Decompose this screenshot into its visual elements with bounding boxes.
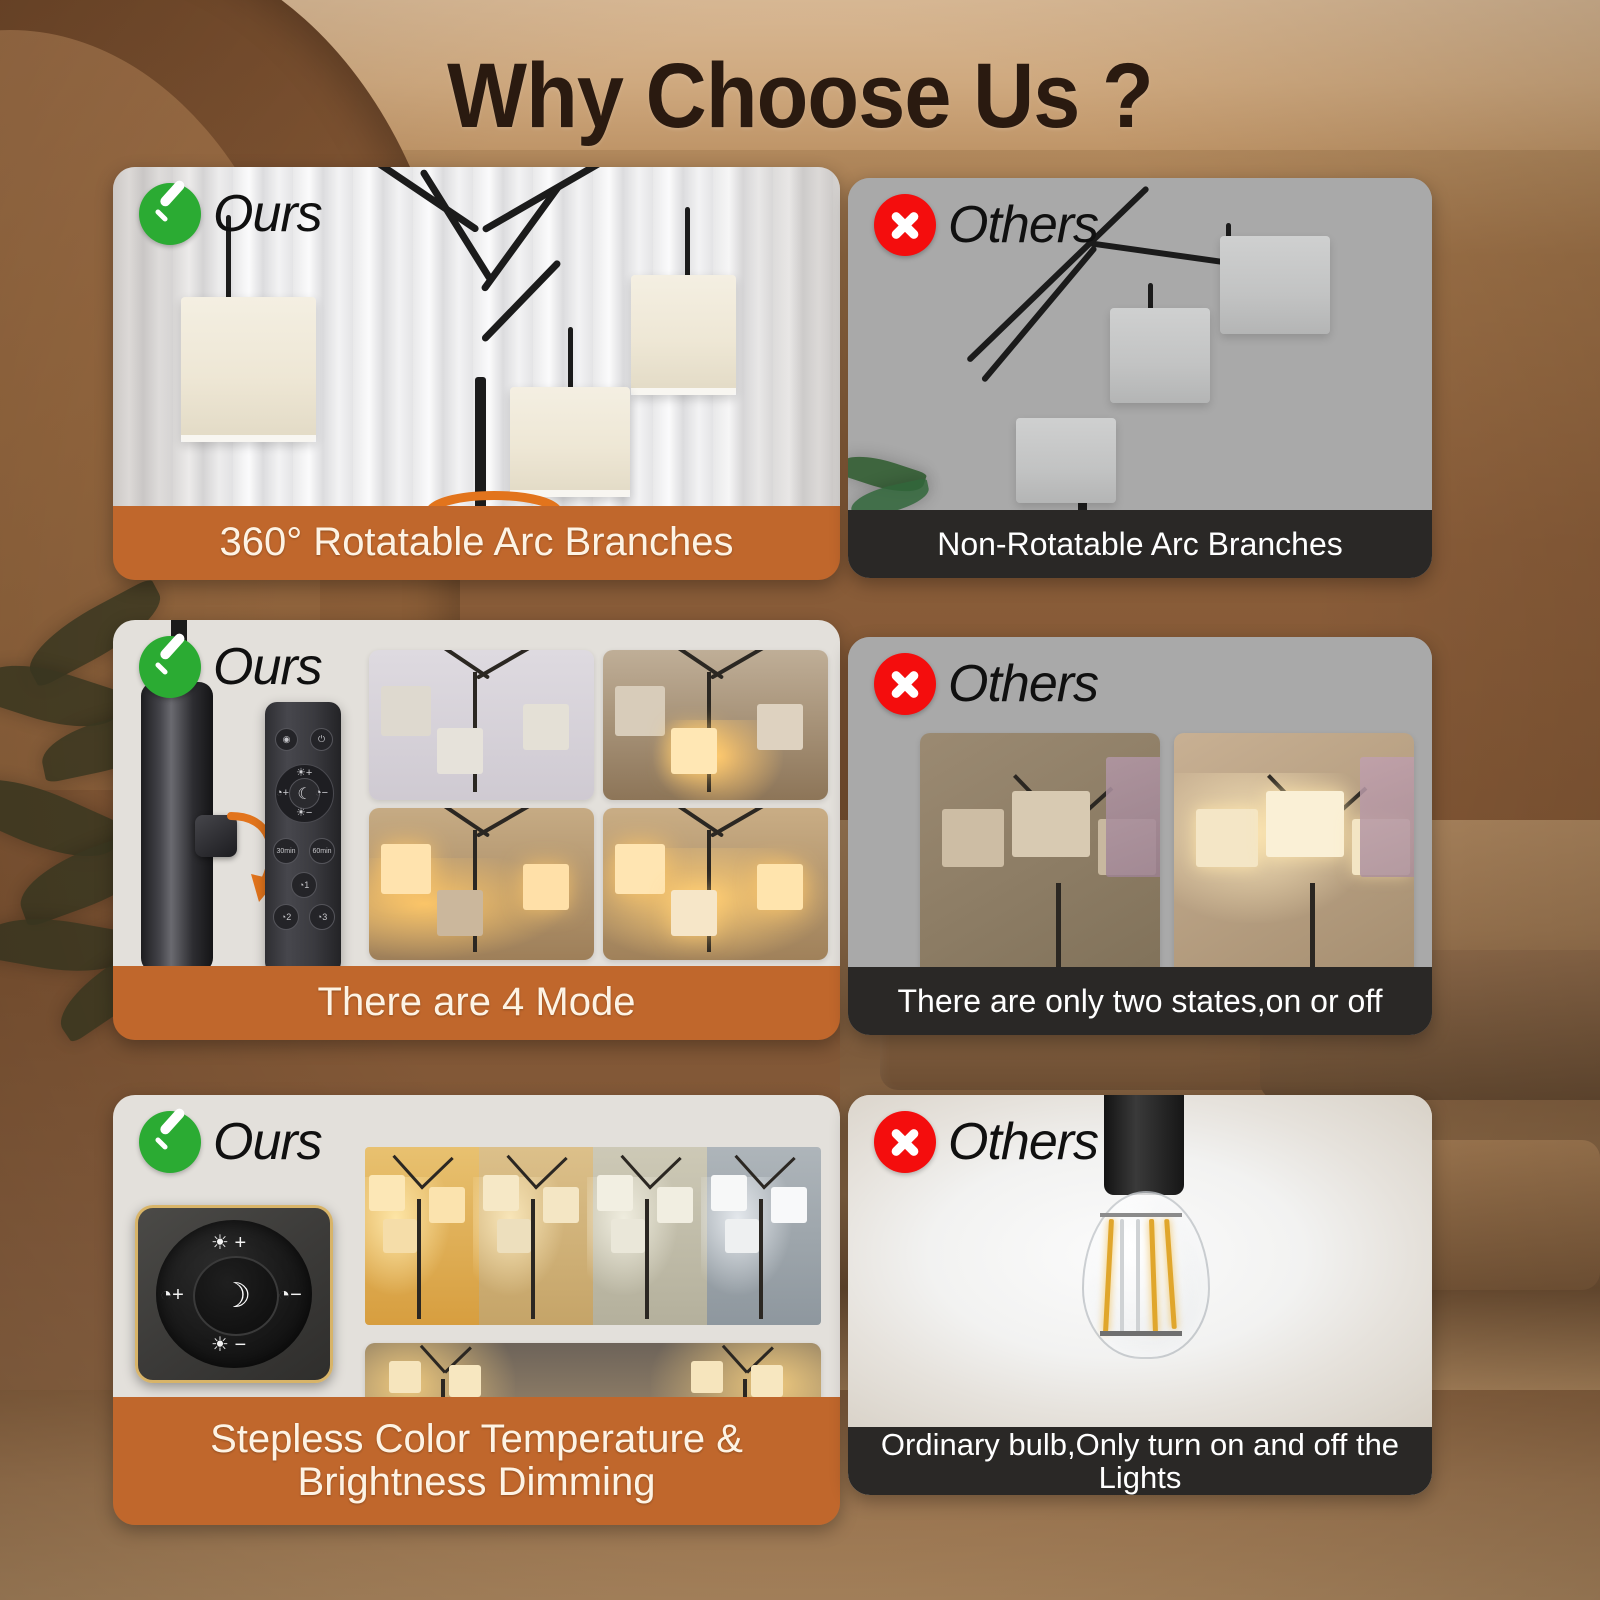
color-temp-swatch[interactable] bbox=[365, 1147, 479, 1325]
others-shade-top bbox=[1220, 236, 1330, 334]
bulb-filament bbox=[1120, 1219, 1124, 1333]
caption-others-bulb: Ordinary bulb,Only turn on and off the L… bbox=[848, 1427, 1432, 1495]
color-temp-down-label: ◔− bbox=[315, 787, 328, 799]
others-badge-row-2: Others bbox=[874, 653, 1098, 715]
light-2-button[interactable]: ◔2 bbox=[273, 904, 299, 930]
shade bbox=[449, 1365, 481, 1397]
others-badge-label: Others bbox=[948, 1116, 1098, 1168]
shade bbox=[691, 1361, 723, 1393]
others-state-off[interactable] bbox=[920, 733, 1160, 967]
color-temp-up-label: ◔+ bbox=[276, 787, 289, 799]
color-temp-strip bbox=[365, 1147, 821, 1325]
remote-control[interactable]: ◉ ⏻ ☾ ☀+ ◔+ ◔− ☀− 30min 60min ◔1 ◔2 ◔3 bbox=[265, 702, 341, 966]
shade bbox=[611, 1219, 645, 1253]
shade bbox=[757, 704, 803, 750]
others-plant bbox=[848, 440, 950, 510]
ours-badge-label: Ours bbox=[213, 641, 322, 693]
night-light-button[interactable]: ☽ bbox=[193, 1256, 279, 1336]
shade bbox=[389, 1361, 421, 1393]
mode-button[interactable]: ◉ bbox=[275, 728, 298, 751]
shade bbox=[437, 728, 483, 774]
color-temp-swatch[interactable] bbox=[707, 1147, 821, 1325]
others-modes-stage: Others bbox=[848, 637, 1432, 967]
others-lamp-arc-2 bbox=[981, 245, 1098, 383]
brightness-up-label: ☀ + bbox=[211, 1230, 246, 1255]
ours-badge-label: Ours bbox=[213, 188, 322, 240]
lamp-shade-left bbox=[181, 297, 316, 442]
ours-dimming-stage: ☽ ☀ + ◔+ ◔− ☀ − bbox=[113, 1095, 840, 1397]
timer-60min-button[interactable]: 60min bbox=[309, 838, 335, 864]
lamp-drop-mid bbox=[568, 327, 573, 389]
brightness-down-label: ☀− bbox=[296, 806, 312, 819]
shade bbox=[483, 1175, 519, 1211]
page-title: Why Choose Us ? bbox=[64, 44, 1536, 149]
caption-ours-dimming-line2: Brightness Dimming bbox=[298, 1461, 656, 1504]
shade bbox=[757, 864, 803, 910]
mode-thumb-3[interactable] bbox=[369, 808, 594, 960]
caption-ours-dimming-line1: Stepless Color Temperature & bbox=[210, 1418, 743, 1461]
ours-badge-row-1: Ours bbox=[139, 183, 322, 245]
card-ours-dimming[interactable]: ☽ ☀ + ◔+ ◔− ☀ − bbox=[113, 1095, 840, 1525]
check-circle-icon bbox=[139, 636, 201, 698]
card-others-modes[interactable]: Others There are only two states,on or o… bbox=[848, 637, 1432, 1035]
shade bbox=[381, 686, 431, 736]
shade bbox=[942, 809, 1004, 867]
light-3-button[interactable]: ◔3 bbox=[309, 904, 335, 930]
card-others-rotation[interactable]: Others Non-Rotatable Arc Branches bbox=[848, 178, 1432, 578]
brightness-down-label: ☀ − bbox=[211, 1332, 246, 1357]
shade bbox=[597, 1175, 633, 1211]
others-badge-label: Others bbox=[948, 199, 1098, 251]
check-circle-icon bbox=[139, 1111, 201, 1173]
caption-ours-dimming: Stepless Color Temperature & Brightness … bbox=[113, 1397, 840, 1525]
shade bbox=[381, 844, 431, 894]
caption-ours-modes: There are 4 Mode bbox=[113, 966, 840, 1040]
mode-thumb-1[interactable] bbox=[369, 650, 594, 800]
ours-rotation-stage: Ours bbox=[113, 167, 840, 506]
caption-ours-rotation: 360° Rotatable Arc Branches bbox=[113, 506, 840, 580]
shade bbox=[725, 1219, 759, 1253]
color-temp-down-label: ◔− bbox=[278, 1284, 302, 1307]
others-lamp-arc-3 bbox=[1088, 240, 1227, 265]
shade bbox=[523, 864, 569, 910]
mode-thumb-2[interactable] bbox=[603, 650, 828, 800]
color-temp-swatch[interactable] bbox=[479, 1147, 593, 1325]
shade bbox=[711, 1175, 747, 1211]
others-rotation-stage: Others bbox=[848, 178, 1432, 510]
shade bbox=[1266, 791, 1344, 857]
check-circle-icon bbox=[139, 183, 201, 245]
shade bbox=[657, 1187, 693, 1223]
lamp-drop-right bbox=[685, 207, 690, 279]
caption-others-modes: There are only two states,on or off bbox=[848, 967, 1432, 1035]
mode-thumb-4[interactable] bbox=[603, 808, 828, 960]
ours-badge-row-3: Ours bbox=[139, 1111, 322, 1173]
bulb-filament-bridge bbox=[1100, 1213, 1182, 1217]
shade bbox=[671, 890, 717, 936]
caption-others-rotation: Non-Rotatable Arc Branches bbox=[848, 510, 1432, 578]
light-1-button[interactable]: ◔1 bbox=[291, 872, 317, 898]
x-circle-icon bbox=[874, 653, 936, 715]
bulb-socket bbox=[1104, 1095, 1184, 1195]
card-ours-modes[interactable]: ◉ ⏻ ☾ ☀+ ◔+ ◔− ☀− 30min 60min ◔1 ◔2 ◔3 bbox=[113, 620, 840, 1040]
rotation-arrow-icon bbox=[409, 467, 579, 506]
dimmer-knob-plate[interactable]: ☽ ☀ + ◔+ ◔− ☀ − bbox=[135, 1205, 333, 1383]
shade bbox=[751, 1365, 783, 1397]
shade bbox=[615, 686, 665, 736]
timer-30min-button[interactable]: 30min bbox=[273, 838, 299, 864]
shade bbox=[543, 1187, 579, 1223]
power-button[interactable]: ⏻ bbox=[310, 728, 333, 751]
ours-badge-label: Ours bbox=[213, 1116, 322, 1168]
lamp-shade-right bbox=[631, 275, 736, 395]
shade bbox=[437, 890, 483, 936]
others-shade-mid bbox=[1110, 308, 1210, 403]
shade bbox=[615, 844, 665, 894]
others-state-on[interactable] bbox=[1174, 733, 1414, 967]
x-circle-icon bbox=[874, 194, 936, 256]
brightness-up-label: ☀+ bbox=[296, 766, 312, 779]
others-badge-row-1: Others bbox=[874, 194, 1098, 256]
others-badge-row-3: Others bbox=[874, 1111, 1098, 1173]
color-temp-swatch[interactable] bbox=[593, 1147, 707, 1325]
shade bbox=[497, 1219, 531, 1253]
bulb-filament-bridge bbox=[1100, 1331, 1182, 1336]
color-temp-up-label: ◔+ bbox=[160, 1284, 184, 1307]
ours-badge-row-2: Ours bbox=[139, 636, 322, 698]
shade bbox=[1012, 791, 1090, 857]
shade bbox=[369, 1175, 405, 1211]
others-badge-label: Others bbox=[948, 658, 1098, 710]
shade bbox=[771, 1187, 807, 1223]
card-others-bulb[interactable]: Others Ordinary bulb,Only turn on and of… bbox=[848, 1095, 1432, 1495]
shade bbox=[523, 704, 569, 750]
card-ours-rotation[interactable]: Ours 360° Rotatable Arc Branches bbox=[113, 167, 840, 580]
shade bbox=[1196, 809, 1258, 867]
bulb-filament bbox=[1136, 1219, 1140, 1333]
shade bbox=[383, 1219, 417, 1253]
shade bbox=[671, 728, 717, 774]
others-shade-low bbox=[1016, 418, 1116, 503]
ours-modes-stage: ◉ ⏻ ☾ ☀+ ◔+ ◔− ☀− 30min 60min ◔1 ◔2 ◔3 bbox=[113, 620, 840, 966]
shade bbox=[429, 1187, 465, 1223]
others-bulb-stage: Others bbox=[848, 1095, 1432, 1427]
room-photo[interactable] bbox=[365, 1343, 821, 1397]
x-circle-icon bbox=[874, 1111, 936, 1173]
